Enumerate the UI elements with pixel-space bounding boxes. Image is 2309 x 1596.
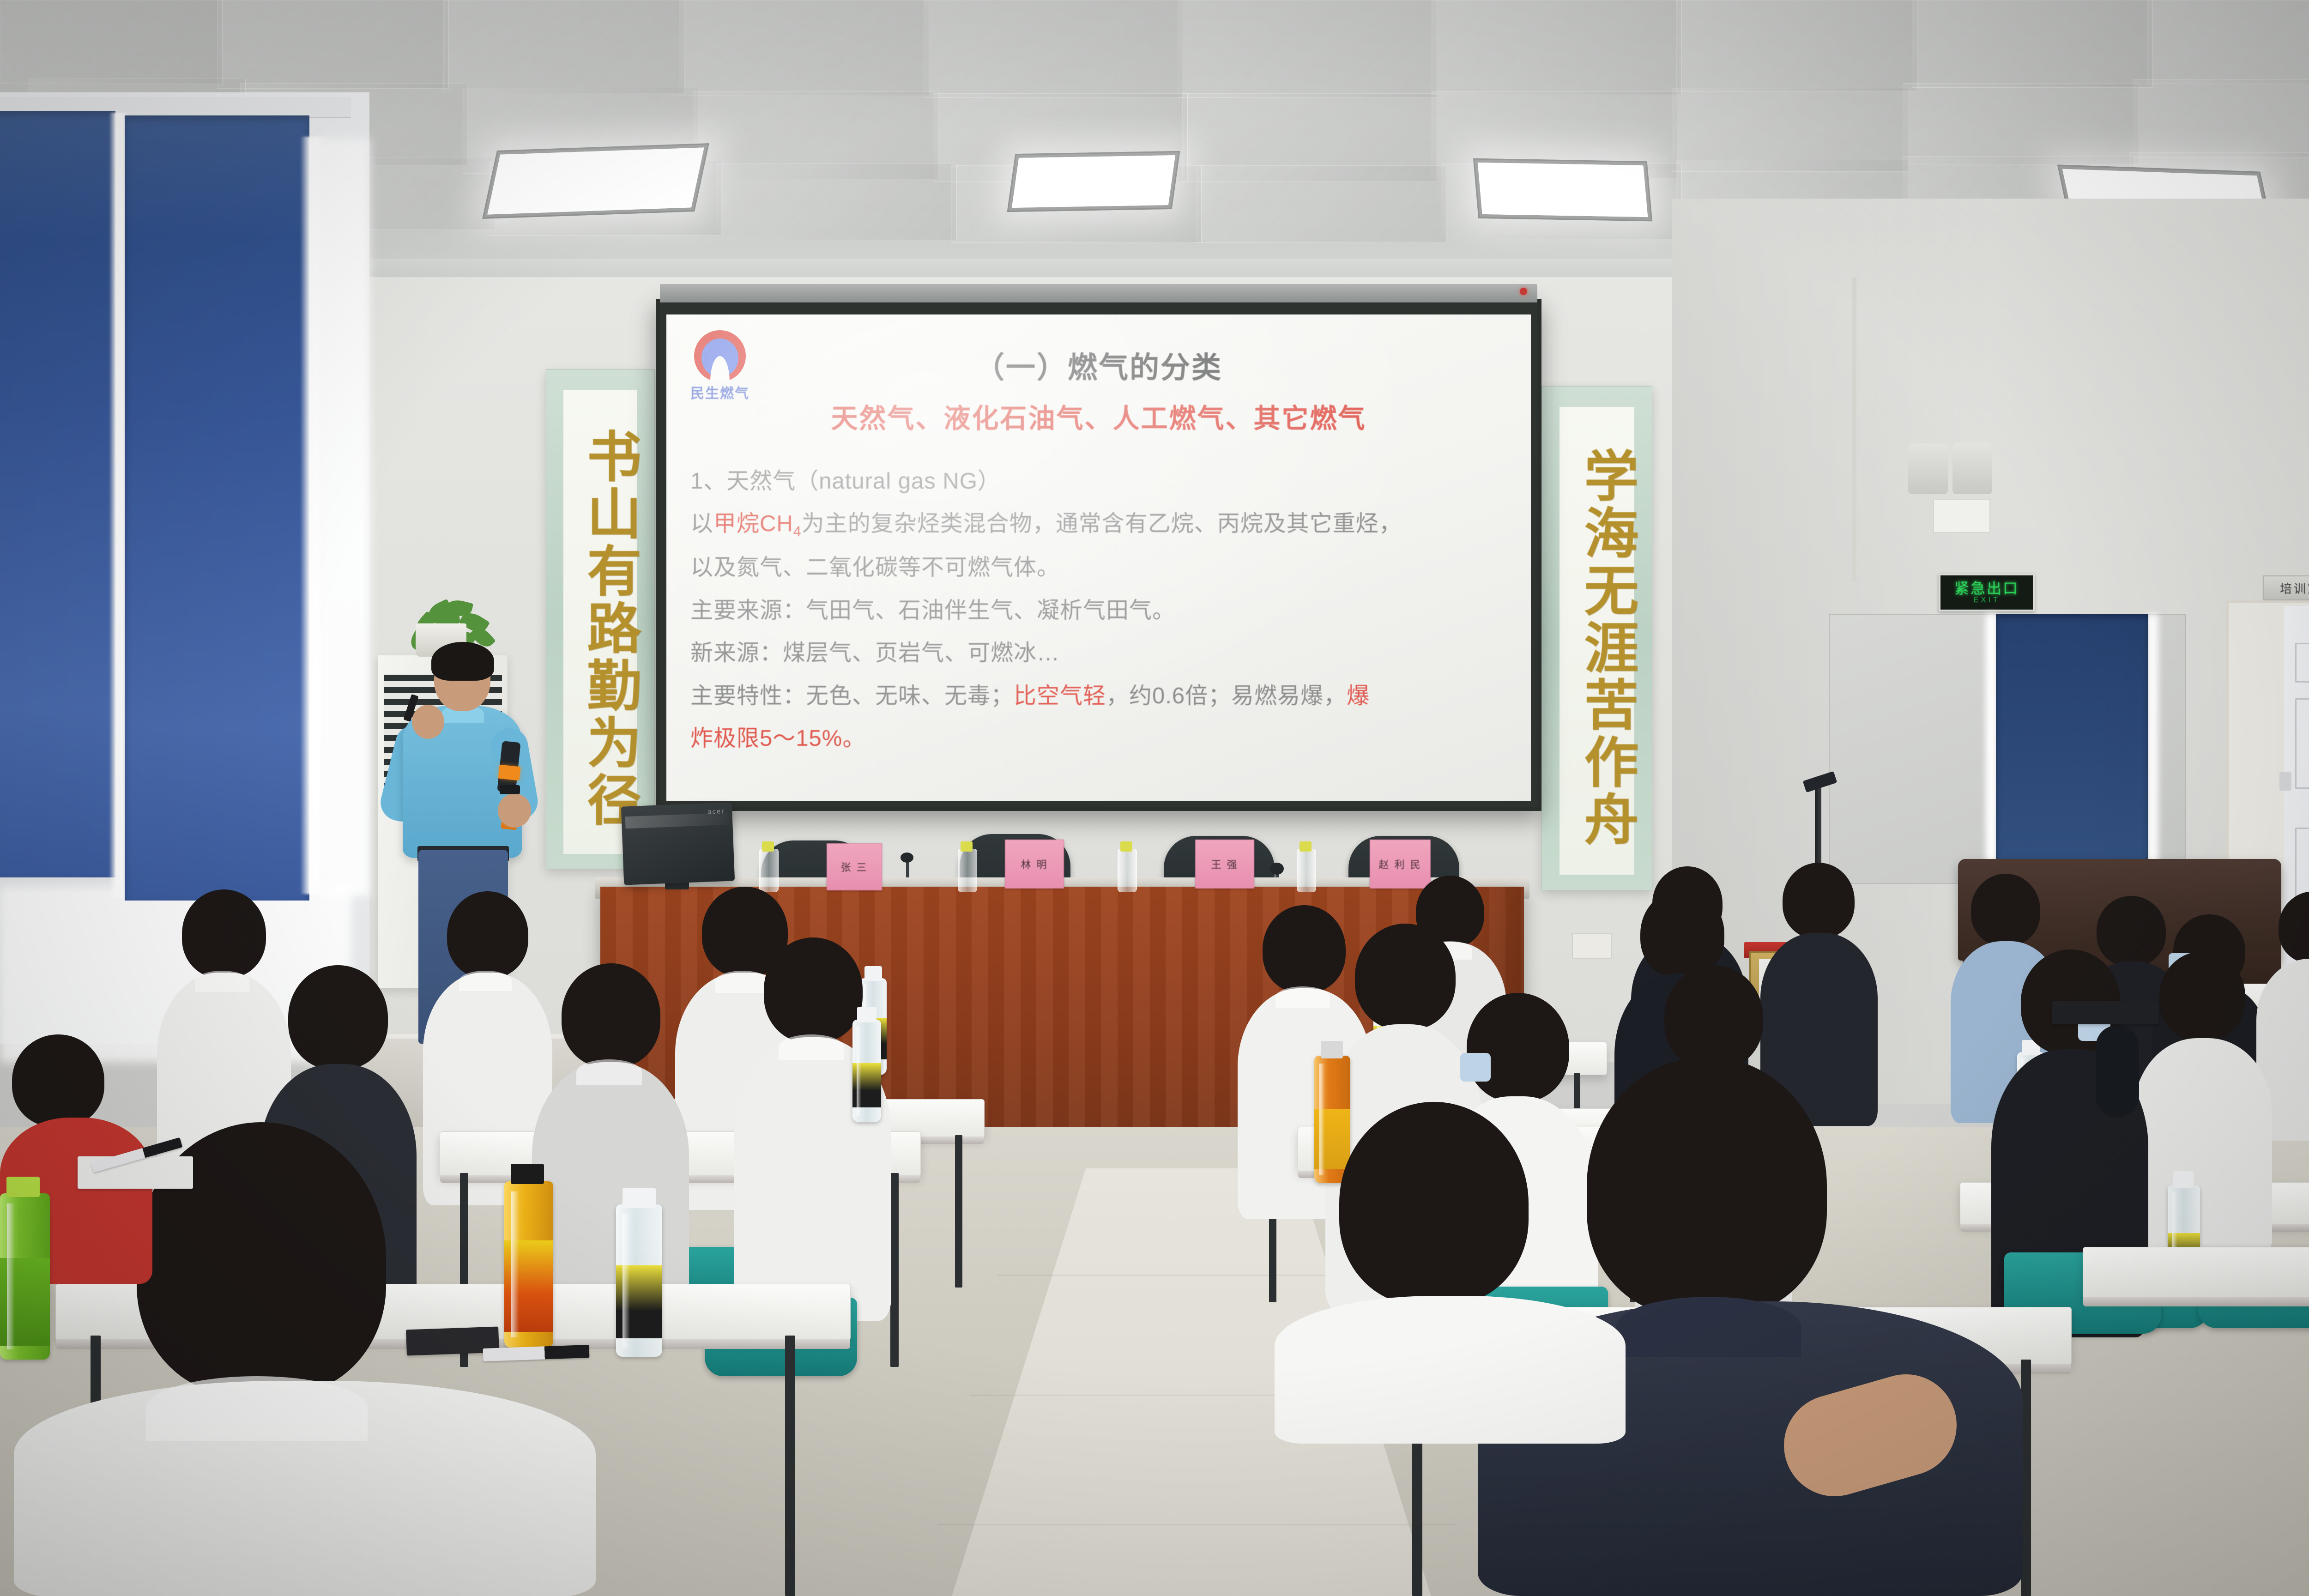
water-bottle[interactable] — [616, 1204, 662, 1357]
name-card: 王 强 — [1195, 840, 1254, 889]
slide-line-6: 主要特性：无色、无味、无毒；比空气轻，约0.6倍；易燃易爆，爆 — [690, 679, 1507, 713]
polo-collar — [1616, 1297, 1801, 1357]
room-name-sign: 培训室 — [2263, 575, 2309, 600]
podium-bottle-cap — [961, 841, 973, 852]
slide-subtitle: 天然气、液化石油气、人工燃气、其它燃气 — [690, 397, 1507, 435]
computer-monitor: acer — [621, 802, 735, 885]
name-card: 张 三 — [827, 843, 882, 890]
calligraphy-scroll-right: 学海无涯苦作舟 — [1541, 386, 1652, 890]
desk-leg — [785, 1336, 795, 1596]
bottle-cap — [2173, 1171, 2194, 1188]
window-blind-left[interactable] — [0, 111, 115, 877]
desk-leg — [890, 1173, 899, 1367]
exit-sign-english-label: EXIT — [1973, 596, 2000, 605]
podium-bottle-cap — [1120, 841, 1132, 852]
slide-line-5: 新来源：煤层气、页岩气、可燃冰… — [690, 636, 1507, 670]
slide-body: 1、天然气（natural gas NG） 以甲烷CH4为主的复杂烃类混合物，通… — [690, 464, 1507, 756]
exit-sign-chinese-label: 紧急出口 — [1954, 581, 2019, 596]
emergency-exit-sign: 紧急出口 EXIT — [1939, 574, 2035, 611]
line2-highlight-methane: 甲烷CH4 — [713, 511, 802, 536]
bottle-cap — [511, 1164, 544, 1184]
calligraphy-text-left: 书山有路勤为径 — [563, 390, 637, 853]
ceiling-light-panel — [1473, 158, 1652, 222]
line2-subscript: 4 — [793, 524, 802, 539]
podium-water-bottle[interactable] — [1118, 849, 1137, 892]
projection-screen: 民生燃气 （一）燃气的分类 天然气、液化石油气、人工燃气、其它燃气 1、天然气（… — [656, 299, 1541, 811]
ceiling-light-panel — [482, 143, 709, 219]
line2-prefix: 以 — [690, 511, 713, 536]
presenter-hair — [431, 642, 494, 681]
ceiling-light-panel — [1007, 151, 1180, 212]
ponytail — [2096, 1025, 2139, 1118]
podium-water-bottle[interactable] — [1297, 849, 1316, 892]
classroom-scene: 紧急出口 EXIT 培训室 书山有路勤为径 学海无涯苦作舟 — [0, 0, 2309, 1596]
door-handle[interactable] — [2279, 772, 2291, 791]
projected-slide: 民生燃气 （一）燃气的分类 天然气、液化石油气、人工燃气、其它燃气 1、天然气（… — [666, 314, 1531, 801]
wall-speaker-left — [1908, 443, 1948, 494]
wall-socket[interactable] — [1572, 933, 1612, 959]
window-blind-right[interactable] — [1996, 614, 2148, 873]
wall-conduit — [1852, 277, 1856, 582]
monitor-brand-label: acer — [707, 807, 725, 816]
audience-member — [2134, 951, 2272, 1256]
audience-member — [734, 937, 891, 1321]
slide-line-1: 1、天然气（natural gas NG） — [690, 464, 1507, 498]
line6-highlight-lighter: 比空气轻 — [1014, 683, 1106, 708]
calligraphy-scroll-left: 书山有路勤为径 — [546, 369, 655, 869]
line2-suffix: 为主的复杂烃类混合物，通常含有乙烷、丙烷及其它重烃， — [802, 511, 1402, 536]
line6-prefix: 主要特性：无色、无味、无毒； — [690, 683, 1014, 708]
podium-microphone-head — [1270, 863, 1284, 875]
microphone-accent-band — [498, 765, 521, 781]
slide-line-3: 以及氮气、二氧化碳等不可燃气体。 — [690, 550, 1507, 585]
podium-water-bottle[interactable] — [759, 849, 779, 892]
water-bottle[interactable] — [852, 1020, 881, 1122]
audience-member-foreground — [1275, 1102, 1626, 1444]
podium-water-bottle[interactable] — [958, 849, 977, 892]
presenter-right-hand — [498, 793, 531, 828]
podium-microphone-head — [901, 852, 913, 863]
projection-screen-casing — [660, 284, 1537, 302]
slide-title: （一）燃气的分类 — [690, 344, 1507, 387]
calligraphy-text-right: 学海无涯苦作舟 — [1559, 407, 1634, 875]
light-switch-plate[interactable] — [1933, 499, 1990, 533]
name-card: 林 明 — [1005, 840, 1064, 889]
window-edge-glow — [319, 139, 369, 896]
student-desk — [2083, 1247, 2309, 1299]
right-window-glow — [1986, 614, 1997, 882]
podium-bottle-cap — [1300, 841, 1312, 852]
slide-line-7: 炸极限5～15%。 — [690, 721, 1507, 756]
bottle-cap — [6, 1177, 40, 1197]
wristwatch — [500, 785, 520, 794]
slide-line-4: 主要来源：气田气、石油伴生气、凝析气田气。 — [690, 593, 1507, 628]
podium-bottle-cap — [762, 841, 774, 852]
line6-highlight-explosion: 爆 — [1347, 683, 1370, 708]
notebook[interactable] — [2052, 1001, 2158, 1024]
slide-line-2: 以甲烷CH4为主的复杂烃类混合物，通常含有乙烷、丙烷及其它重烃， — [690, 507, 1507, 542]
bottle-cap — [1321, 1041, 1343, 1058]
desk-leg — [955, 1135, 962, 1288]
floor-tile-line — [937, 1524, 1455, 1525]
bottle-cap — [623, 1188, 656, 1208]
window-blind-middle[interactable] — [125, 115, 309, 901]
wall-speaker-right — [1952, 443, 1992, 494]
energy-drink-bottle[interactable] — [504, 1181, 553, 1348]
line6-middle: ，约0.6倍；易燃易爆， — [1106, 683, 1347, 708]
presenter-left-hand — [412, 705, 444, 739]
green-tea-bottle[interactable] — [0, 1193, 50, 1360]
bottle-cap — [857, 1007, 876, 1022]
projector-indicator-led — [1520, 288, 1527, 295]
